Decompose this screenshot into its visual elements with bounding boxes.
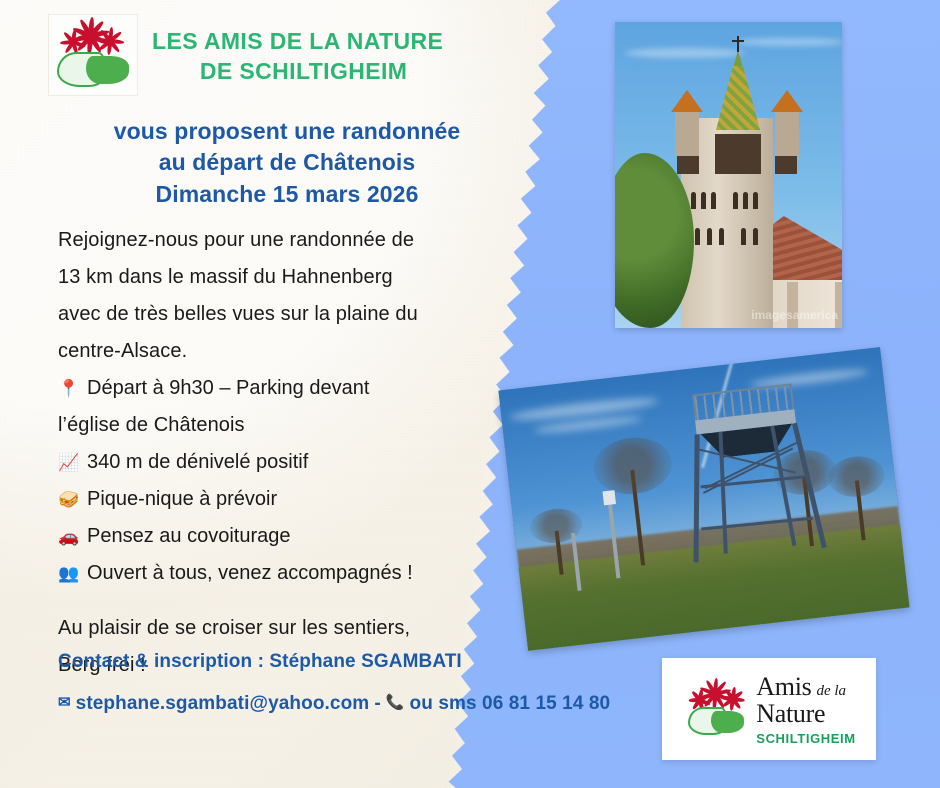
chart-increasing-icon: 📈 xyxy=(58,444,80,481)
busts-in-silhouette-icon: 👥 xyxy=(58,555,80,592)
car-icon: 🚗 xyxy=(58,518,80,555)
logo-word-amis: Amis xyxy=(756,674,811,700)
envelope-icon: ✉ xyxy=(58,694,71,713)
list-item: 📍 Départ à 9h30 – Parking devant xyxy=(58,370,508,407)
photo-observation-tower-hahnenberg xyxy=(498,347,909,651)
poster-canvas: LES AMIS DE LA NATURE DE SCHILTIGHEIM vo… xyxy=(0,0,940,788)
announcement-block: vous proposent une randonnée au départ d… xyxy=(52,116,522,210)
list-item-label: Ouvert à tous, venez accompagnés ! xyxy=(87,555,508,592)
org-title: LES AMIS DE LA NATURE DE SCHILTIGHEIM xyxy=(152,14,443,87)
contact-separator: - xyxy=(374,692,380,716)
announcement-line1: vous proposent une randonnée xyxy=(52,116,522,147)
org-logo-icon xyxy=(48,14,138,96)
contact-name: Contact & inscription : Stéphane SGAMBAT… xyxy=(58,650,618,674)
list-item: 👥 Ouvert à tous, venez accompagnés ! xyxy=(58,555,508,592)
footer-logo-card: Amis de la Nature SCHILTIGHEIM xyxy=(662,658,876,760)
announcement-date: Dimanche 15 mars 2026 xyxy=(52,179,522,210)
list-item-label: Pique-nique à prévoir xyxy=(87,481,508,518)
list-item: 🚗 Pensez au covoiturage xyxy=(58,518,508,555)
org-title-line2: DE SCHILTIGHEIM xyxy=(152,56,443,86)
photo-church-tower-chatenois: imagesamerica xyxy=(615,22,842,328)
details-list: 📍 Départ à 9h30 – Parking devant l’églis… xyxy=(58,370,508,592)
telephone-icon: 📞 xyxy=(386,694,405,713)
intro-line2: 13 km dans le massif du Hahnenberg xyxy=(58,259,508,296)
amis-de-la-nature-logo-icon xyxy=(686,679,748,739)
list-item-label: Pensez au covoiturage xyxy=(87,518,508,555)
list-item: 📈 340 m de dénivelé positif xyxy=(58,444,508,481)
contact-details: ✉ stephane.sgambati@yahoo.com - 📞 ou sms… xyxy=(58,692,618,716)
photo-watermark: imagesamerica xyxy=(751,309,838,322)
closing-line1: Au plaisir de se croiser sur les sentier… xyxy=(58,610,508,647)
contact-email[interactable]: stephane.sgambati@yahoo.com xyxy=(76,692,370,716)
announcement-line2: au départ de Châtenois xyxy=(52,147,522,178)
intro-line3: avec de très belles vues sur la plaine d… xyxy=(58,296,508,333)
contact-block: Contact & inscription : Stéphane SGAMBAT… xyxy=(58,650,618,716)
body-copy: Rejoignez-nous pour une randonnée de 13 … xyxy=(58,222,508,684)
logo-word-dela: de la xyxy=(816,684,846,699)
footer-logo-wordmark: Amis de la Nature SCHILTIGHEIM xyxy=(756,674,855,745)
list-item: 🥪 Pique-nique à prévoir xyxy=(58,481,508,518)
header: LES AMIS DE LA NATURE DE SCHILTIGHEIM xyxy=(48,14,518,96)
org-title-line1: LES AMIS DE LA NATURE xyxy=(152,26,443,56)
round-pushpin-icon: 📍 xyxy=(58,370,80,407)
intro-line1: Rejoignez-nous pour une randonnée de xyxy=(58,222,508,259)
logo-city-label: SCHILTIGHEIM xyxy=(756,732,855,745)
list-item-label: Départ à 9h30 – Parking devant xyxy=(87,370,508,407)
sandwich-icon: 🥪 xyxy=(58,481,80,518)
logo-word-nature: Nature xyxy=(756,701,855,727)
contact-phone: ou sms 06 81 15 14 80 xyxy=(410,692,611,716)
list-item-label: 340 m de dénivelé positif xyxy=(87,444,508,481)
list-item-continuation: l’église de Châtenois xyxy=(58,407,508,444)
intro-line4: centre-Alsace. xyxy=(58,333,508,370)
